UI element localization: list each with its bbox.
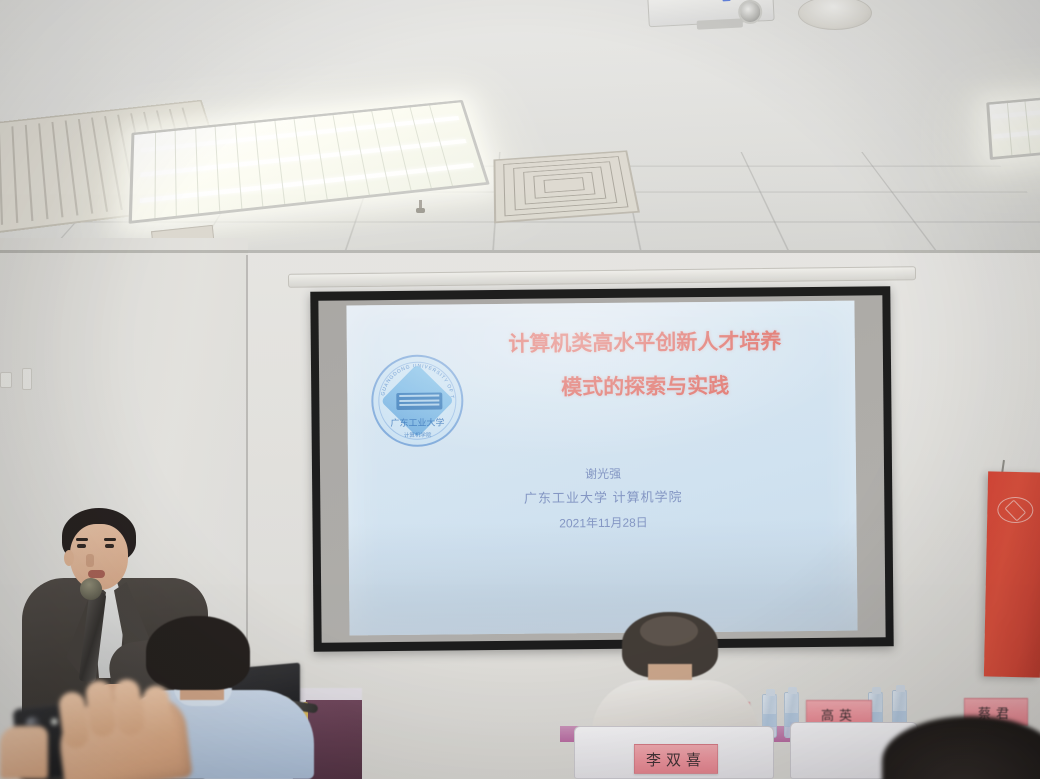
red-vertical-banner [984, 471, 1040, 677]
ceiling-projector [647, 0, 774, 27]
mouth [88, 570, 105, 578]
ear [64, 550, 74, 566]
projection-screen-surface: GUANGDONG UNIVERSITY OF TECHNOLOGY 广东工业大… [318, 295, 885, 642]
conference-room-photo: GUANGDONG UNIVERSITY OF TECHNOLOGY 广东工业大… [0, 0, 1040, 779]
fire-sprinkler-icon [416, 200, 425, 214]
foreground-hand [55, 693, 192, 779]
placard-name: 高英 [821, 705, 857, 724]
ceiling-light-panel-right [986, 92, 1040, 160]
placard-name: 李双喜 [646, 749, 706, 770]
projected-slide: GUANGDONG UNIVERSITY OF TECHNOLOGY 广东工业大… [346, 301, 857, 636]
name-placard-lishuangxi: 李双喜 [634, 744, 718, 774]
banner-emblem-icon [997, 497, 1034, 524]
wall-fixture-plate [22, 368, 32, 390]
slide-title-line1: 计算机类高水平创新人才培养 [508, 329, 781, 356]
slide-title-line2: 模式的探索与实践 [445, 363, 845, 411]
ceiling-speaker-dome [798, 0, 872, 30]
eyebrow-right [104, 538, 116, 541]
hair [146, 616, 250, 690]
slide-title: 计算机类高水平创新人才培养 模式的探索与实践 [445, 319, 846, 411]
wall-switch-plate [0, 372, 12, 388]
eyebrow-left [76, 538, 88, 541]
wall-corner-edge [246, 255, 248, 675]
logo-university-name: 广东工业大学 [373, 415, 461, 429]
slide-date: 2021年11月28日 [388, 509, 818, 537]
projection-screen[interactable]: GUANGDONG UNIVERSITY OF TECHNOLOGY 广东工业大… [310, 286, 893, 652]
eye-left [77, 544, 86, 548]
slide-affiliation: 广东工业大学 计算机学院 [388, 483, 818, 513]
hand-holding-phone [0, 726, 48, 779]
hvac-square-diffuser [493, 150, 639, 223]
wall-ceiling-seam [0, 250, 1040, 253]
logo-college-name: 计算机学院 [374, 430, 462, 439]
ceiling [0, 0, 1040, 268]
face [70, 524, 128, 590]
eye-right [105, 544, 114, 548]
slide-byline: 谢光强 广东工业大学 计算机学院 2021年11月28日 [388, 461, 819, 537]
nose [86, 554, 94, 567]
